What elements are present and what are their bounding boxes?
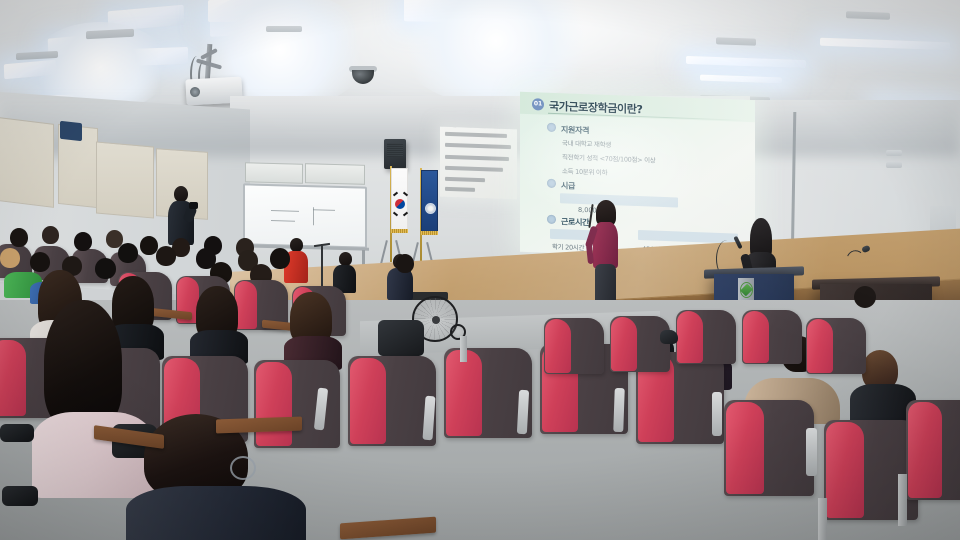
wall-cabinet[interactable] xyxy=(305,163,365,185)
whiteboard-writing xyxy=(271,210,299,212)
audience-head xyxy=(74,232,92,251)
seat-leg-post xyxy=(818,498,827,540)
screen-glare xyxy=(520,92,755,261)
wall-speaker xyxy=(384,139,406,169)
user-jacket xyxy=(387,268,413,300)
audience-head xyxy=(396,254,414,273)
seat-cushion[interactable] xyxy=(826,422,864,518)
trigram xyxy=(393,192,398,197)
institutional-flag xyxy=(421,170,438,232)
seat-cushion[interactable] xyxy=(235,281,257,329)
seat-cushion[interactable] xyxy=(350,358,386,444)
whiteboard-writing xyxy=(313,209,335,211)
wall-vent xyxy=(886,150,902,156)
trigram xyxy=(403,192,408,197)
korean-national-flag xyxy=(391,168,408,230)
audience-head xyxy=(0,248,20,268)
wall-vent xyxy=(886,162,902,168)
seat-cushion[interactable] xyxy=(726,402,764,494)
seat-cushion[interactable] xyxy=(446,350,482,436)
eyeglasses-arm xyxy=(230,456,256,480)
seat-cushion[interactable] xyxy=(545,319,571,373)
audience-head xyxy=(118,243,138,263)
writing-tablet[interactable] xyxy=(216,416,302,433)
sub-slide-line xyxy=(445,166,503,172)
seat-leg-post xyxy=(898,474,907,526)
sub-slide-line xyxy=(445,132,507,138)
flag-fringe xyxy=(421,231,438,235)
sub-slide-line xyxy=(445,143,511,149)
wheel-hub xyxy=(432,316,440,324)
audience-head xyxy=(42,226,59,244)
acoustic-wall-panel xyxy=(96,141,154,218)
wall-vent xyxy=(60,121,82,141)
audience-head xyxy=(854,286,876,308)
backpack xyxy=(378,320,424,356)
shoe-on-floor xyxy=(2,486,38,506)
seat-leg-post xyxy=(460,336,467,362)
flag-emblem xyxy=(425,203,436,214)
microphone-stand[interactable] xyxy=(321,244,323,288)
audience-head xyxy=(140,236,158,255)
acoustic-wall-panel xyxy=(0,116,54,208)
seat-cushion[interactable] xyxy=(611,317,637,371)
seat-cushion[interactable] xyxy=(908,402,942,498)
pointer-stick[interactable] xyxy=(588,204,593,228)
ceiling-air-vent xyxy=(266,26,302,32)
sub-slide-line xyxy=(445,187,475,192)
attendee-head xyxy=(290,238,303,252)
flag-fringe xyxy=(391,229,408,233)
seat-cushion[interactable] xyxy=(677,311,703,363)
whiteboard-writing xyxy=(313,207,314,225)
seat-cushion[interactable] xyxy=(743,311,769,363)
seat-armrest[interactable] xyxy=(613,388,625,432)
audience-head xyxy=(156,246,176,266)
shoe-on-floor xyxy=(0,424,34,442)
wall-cabinet[interactable] xyxy=(245,162,303,184)
seat-cushion[interactable] xyxy=(0,340,26,416)
operator-head xyxy=(174,186,188,202)
sub-slide-line xyxy=(445,155,509,161)
seat-armrest[interactable] xyxy=(806,428,817,476)
attendee-hair xyxy=(44,300,122,428)
ceiling-air-vent xyxy=(846,11,890,20)
audience-head xyxy=(270,248,290,269)
lecture-hall-photo: 01 국가근로장학금이란? 지원자격 국내 대학교 재학생 직전학기 성적 <7… xyxy=(0,0,960,540)
ceiling-air-vent xyxy=(716,37,756,45)
attendee-head xyxy=(339,252,352,266)
lectern-logo xyxy=(740,282,753,298)
backpack xyxy=(660,330,678,344)
main-projection-screen: 01 국가근로장학금이란? 지원자격 국내 대학교 재학생 직전학기 성적 <7… xyxy=(520,92,755,261)
trigram xyxy=(403,212,408,217)
navy-puffer-jacket xyxy=(126,486,306,540)
trigram xyxy=(393,212,398,217)
camera-device[interactable] xyxy=(189,202,198,209)
audience-head xyxy=(30,252,50,272)
secondary-projection-screen xyxy=(440,127,517,200)
seat-cushion[interactable] xyxy=(807,319,833,373)
taeguk-symbol xyxy=(395,199,405,209)
speaker-grill xyxy=(387,143,403,157)
whiteboard-writing xyxy=(271,220,295,222)
audience-head xyxy=(10,228,28,247)
seat-armrest[interactable] xyxy=(712,392,722,436)
audience-head xyxy=(95,258,116,279)
sub-slide-line xyxy=(445,177,485,182)
